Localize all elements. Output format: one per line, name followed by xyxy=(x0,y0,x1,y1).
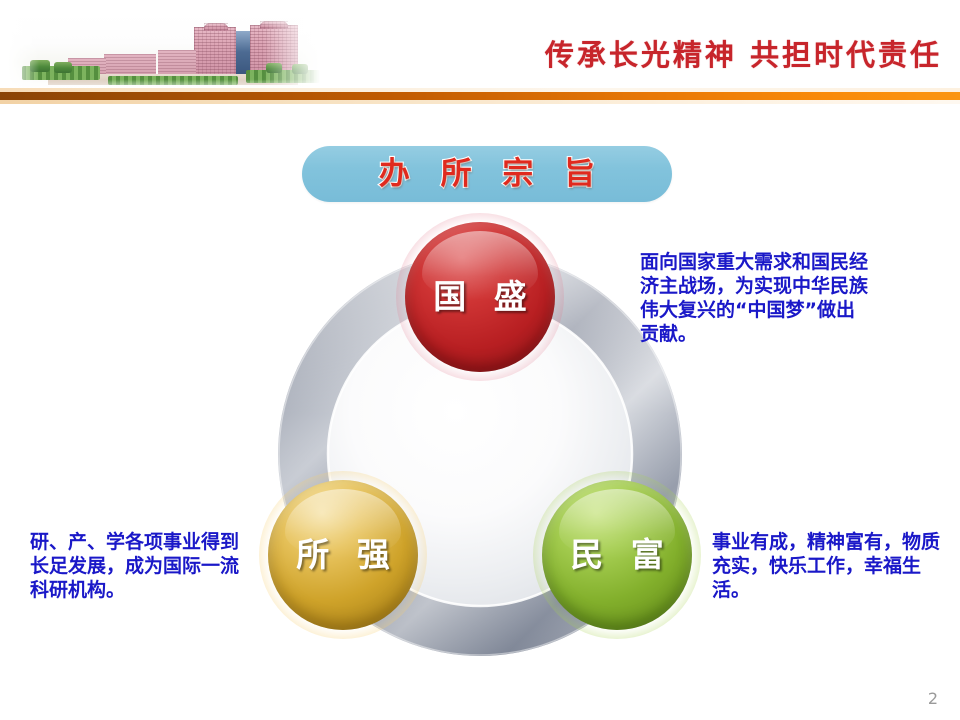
node-label-guosheng: 国 盛 xyxy=(405,222,555,372)
header-divider-bar xyxy=(0,88,960,104)
venn-ring-diagram: 国 盛 所 强 民 富 xyxy=(268,222,692,674)
caption-minfu: 事业有成，精神富有，物质充实，快乐工作，幸福生活。 xyxy=(712,530,944,602)
slide-canvas: 传承长光精神 共担时代责任 办 所 宗 旨 xyxy=(0,0,960,720)
diagram-node-minfu[interactable]: 民 富 xyxy=(542,480,692,630)
slide-header: 传承长光精神 共担时代责任 xyxy=(0,0,960,96)
node-label-minfu: 民 富 xyxy=(542,480,692,630)
caption-guosheng: 面向国家重大需求和国民经济主战场，为实现中华民族伟大复兴的“中国梦”做出贡献。 xyxy=(640,250,870,346)
page-title: 办 所 宗 旨 xyxy=(302,146,672,202)
campus-building-photo xyxy=(8,14,320,92)
diagram-node-suoqiang[interactable]: 所 强 xyxy=(268,480,418,630)
node-label-suoqiang: 所 强 xyxy=(268,480,418,630)
divider-highlight-bottom xyxy=(0,100,960,104)
photo-edge-fade xyxy=(8,14,320,92)
divider-main-band xyxy=(0,92,960,100)
slide-title-banner: 办 所 宗 旨 xyxy=(302,146,672,202)
caption-suoqiang: 研、产、学各项事业得到长足发展，成为国际一流科研机构。 xyxy=(30,530,240,602)
diagram-node-guosheng[interactable]: 国 盛 xyxy=(405,222,555,372)
header-slogan: 传承长光精神 共担时代责任 xyxy=(545,32,942,74)
page-number: 2 xyxy=(928,689,938,708)
